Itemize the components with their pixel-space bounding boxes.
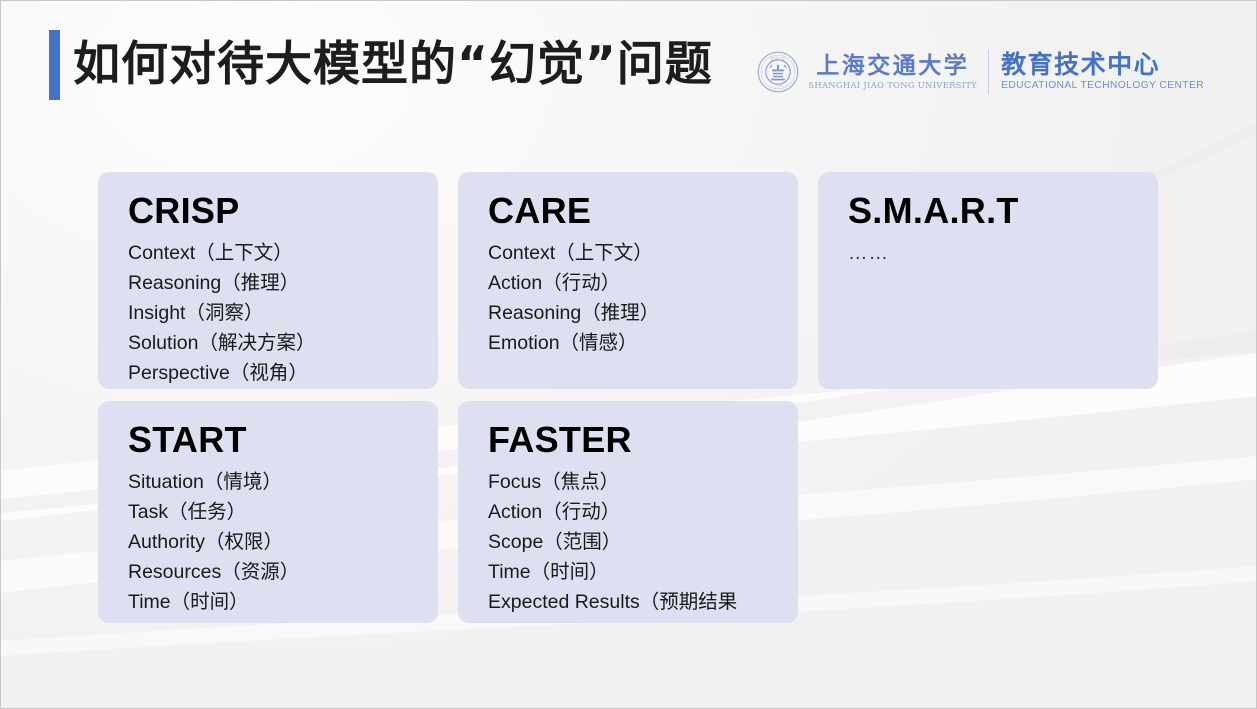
card-line: Time（时间） bbox=[128, 587, 438, 617]
card-title: FASTER bbox=[488, 419, 798, 461]
card-line: Expected Results（预期结果 bbox=[488, 587, 798, 617]
card-title: START bbox=[128, 419, 438, 461]
card-title: CRISP bbox=[128, 190, 438, 232]
card-title: CARE bbox=[488, 190, 798, 232]
card-row-1: CRISP Context（上下文） Reasoning（推理） Insight… bbox=[98, 172, 1158, 389]
card-line: Solution（解决方案） bbox=[128, 328, 438, 358]
card-smart[interactable]: S.M.A.R.T …… bbox=[818, 172, 1158, 389]
logo-university-block: 上海交通大学 SHANGHAI JIAO TONG UNIVERSITY bbox=[808, 53, 988, 91]
card-line: Focus（焦点） bbox=[488, 467, 798, 497]
card-line: Resources（资源） bbox=[128, 557, 438, 587]
logo-divider bbox=[988, 50, 989, 94]
card-crisp[interactable]: CRISP Context（上下文） Reasoning（推理） Insight… bbox=[98, 172, 438, 389]
page-title: 如何对待大模型的“幻觉”问题 bbox=[73, 34, 713, 96]
card-line: Action（行动） bbox=[488, 497, 798, 527]
logo-center-en: EDUCATIONAL TECHNOLOGY CENTER bbox=[1001, 79, 1204, 93]
svg-text:1896: 1896 bbox=[774, 83, 783, 87]
logo-center-cn: 教育技术中心 bbox=[1001, 51, 1204, 79]
card-title: S.M.A.R.T bbox=[848, 190, 1158, 232]
sjtu-seal-icon: 南洋公学 1896 bbox=[757, 51, 799, 93]
card-start[interactable]: START Situation（情境） Task（任务） Authority（权… bbox=[98, 401, 438, 623]
card-line: Time（时间） bbox=[488, 557, 798, 587]
card-line: Action（行动） bbox=[488, 268, 798, 298]
card-line: Reasoning（推理） bbox=[488, 298, 798, 328]
card-row-2: START Situation（情境） Task（任务） Authority（权… bbox=[98, 401, 1158, 623]
framework-cards-area: CRISP Context（上下文） Reasoning（推理） Insight… bbox=[98, 172, 1158, 635]
card-line: Perspective（视角） bbox=[128, 358, 438, 388]
card-line: Emotion（情感） bbox=[488, 328, 798, 358]
card-line: Context（上下文） bbox=[128, 238, 438, 268]
logo-university-cn: 上海交通大学 bbox=[816, 53, 969, 79]
presentation-slide: 如何对待大模型的“幻觉”问题 南洋公学 1896 上海交通大学 SHANGHAI… bbox=[0, 0, 1257, 709]
title-accent-bar bbox=[49, 30, 60, 100]
card-line: Situation（情境） bbox=[128, 467, 438, 497]
card-care[interactable]: CARE Context（上下文） Action（行动） Reasoning（推… bbox=[458, 172, 798, 389]
card-line: Scope（范围） bbox=[488, 527, 798, 557]
slide-header: 如何对待大模型的“幻觉”问题 南洋公学 1896 上海交通大学 SHANGHAI… bbox=[1, 1, 1256, 119]
card-line: …… bbox=[848, 238, 1158, 268]
card-line: Reasoning（推理） bbox=[128, 268, 438, 298]
card-line: Authority（权限） bbox=[128, 527, 438, 557]
logo-lockup: 南洋公学 1896 上海交通大学 SHANGHAI JIAO TONG UNIV… bbox=[757, 47, 1204, 97]
svg-text:南洋公学: 南洋公学 bbox=[771, 56, 786, 61]
card-line: Insight（洞察） bbox=[128, 298, 438, 328]
card-line: Context（上下文） bbox=[488, 238, 798, 268]
card-line: Task（任务） bbox=[128, 497, 438, 527]
logo-university-en: SHANGHAI JIAO TONG UNIVERSITY bbox=[808, 79, 977, 91]
card-faster[interactable]: FASTER Focus（焦点） Action（行动） Scope（范围） Ti… bbox=[458, 401, 798, 623]
logo-center-block: 教育技术中心 EDUCATIONAL TECHNOLOGY CENTER bbox=[1001, 51, 1204, 93]
